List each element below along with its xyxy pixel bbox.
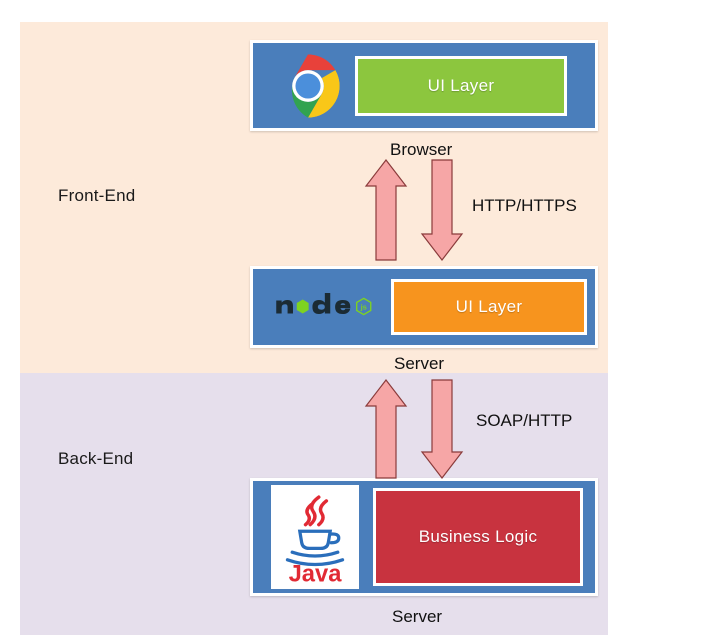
tier-browser[interactable]: UI Layer (250, 40, 598, 131)
panel-label: UI Layer (456, 297, 523, 317)
connector-server-backend (366, 380, 462, 478)
tier-server[interactable]: js UI Layer (250, 266, 598, 348)
region-label-frontend: Front-End (58, 186, 135, 206)
panel-business-logic[interactable]: Business Logic (373, 488, 583, 586)
bottom-caption-server: Server (392, 607, 442, 627)
arrow-up-icon (366, 380, 406, 478)
arrow-down-icon (422, 160, 462, 260)
region-label-backend: Back-End (58, 449, 133, 469)
panel-ui-layer-server[interactable]: UI Layer (391, 279, 587, 335)
svg-text:Java: Java (289, 561, 343, 585)
connector-caption-server: Server (394, 354, 444, 374)
diagram-canvas: Front-End Back-End UI Layer (0, 0, 722, 635)
tier-backend[interactable]: Java Business Logic (250, 478, 598, 596)
panel-label: UI Layer (428, 76, 495, 96)
java-logo-tile: Java (271, 485, 359, 589)
arrow-up-icon (366, 160, 406, 260)
arrow-down-icon (422, 380, 462, 478)
panel-label: Business Logic (419, 527, 538, 547)
nodejs-logo-icon: js (273, 287, 381, 327)
svg-text:js: js (360, 303, 367, 312)
java-logo-icon: Java (277, 489, 353, 585)
connector-browser-server (366, 160, 462, 260)
panel-ui-layer-browser[interactable]: UI Layer (355, 56, 567, 116)
connector-protocol-soap: SOAP/HTTP (476, 411, 572, 431)
connector-caption-browser: Browser (390, 140, 452, 160)
chrome-logo-icon (275, 53, 341, 119)
connector-protocol-http: HTTP/HTTPS (472, 196, 577, 216)
